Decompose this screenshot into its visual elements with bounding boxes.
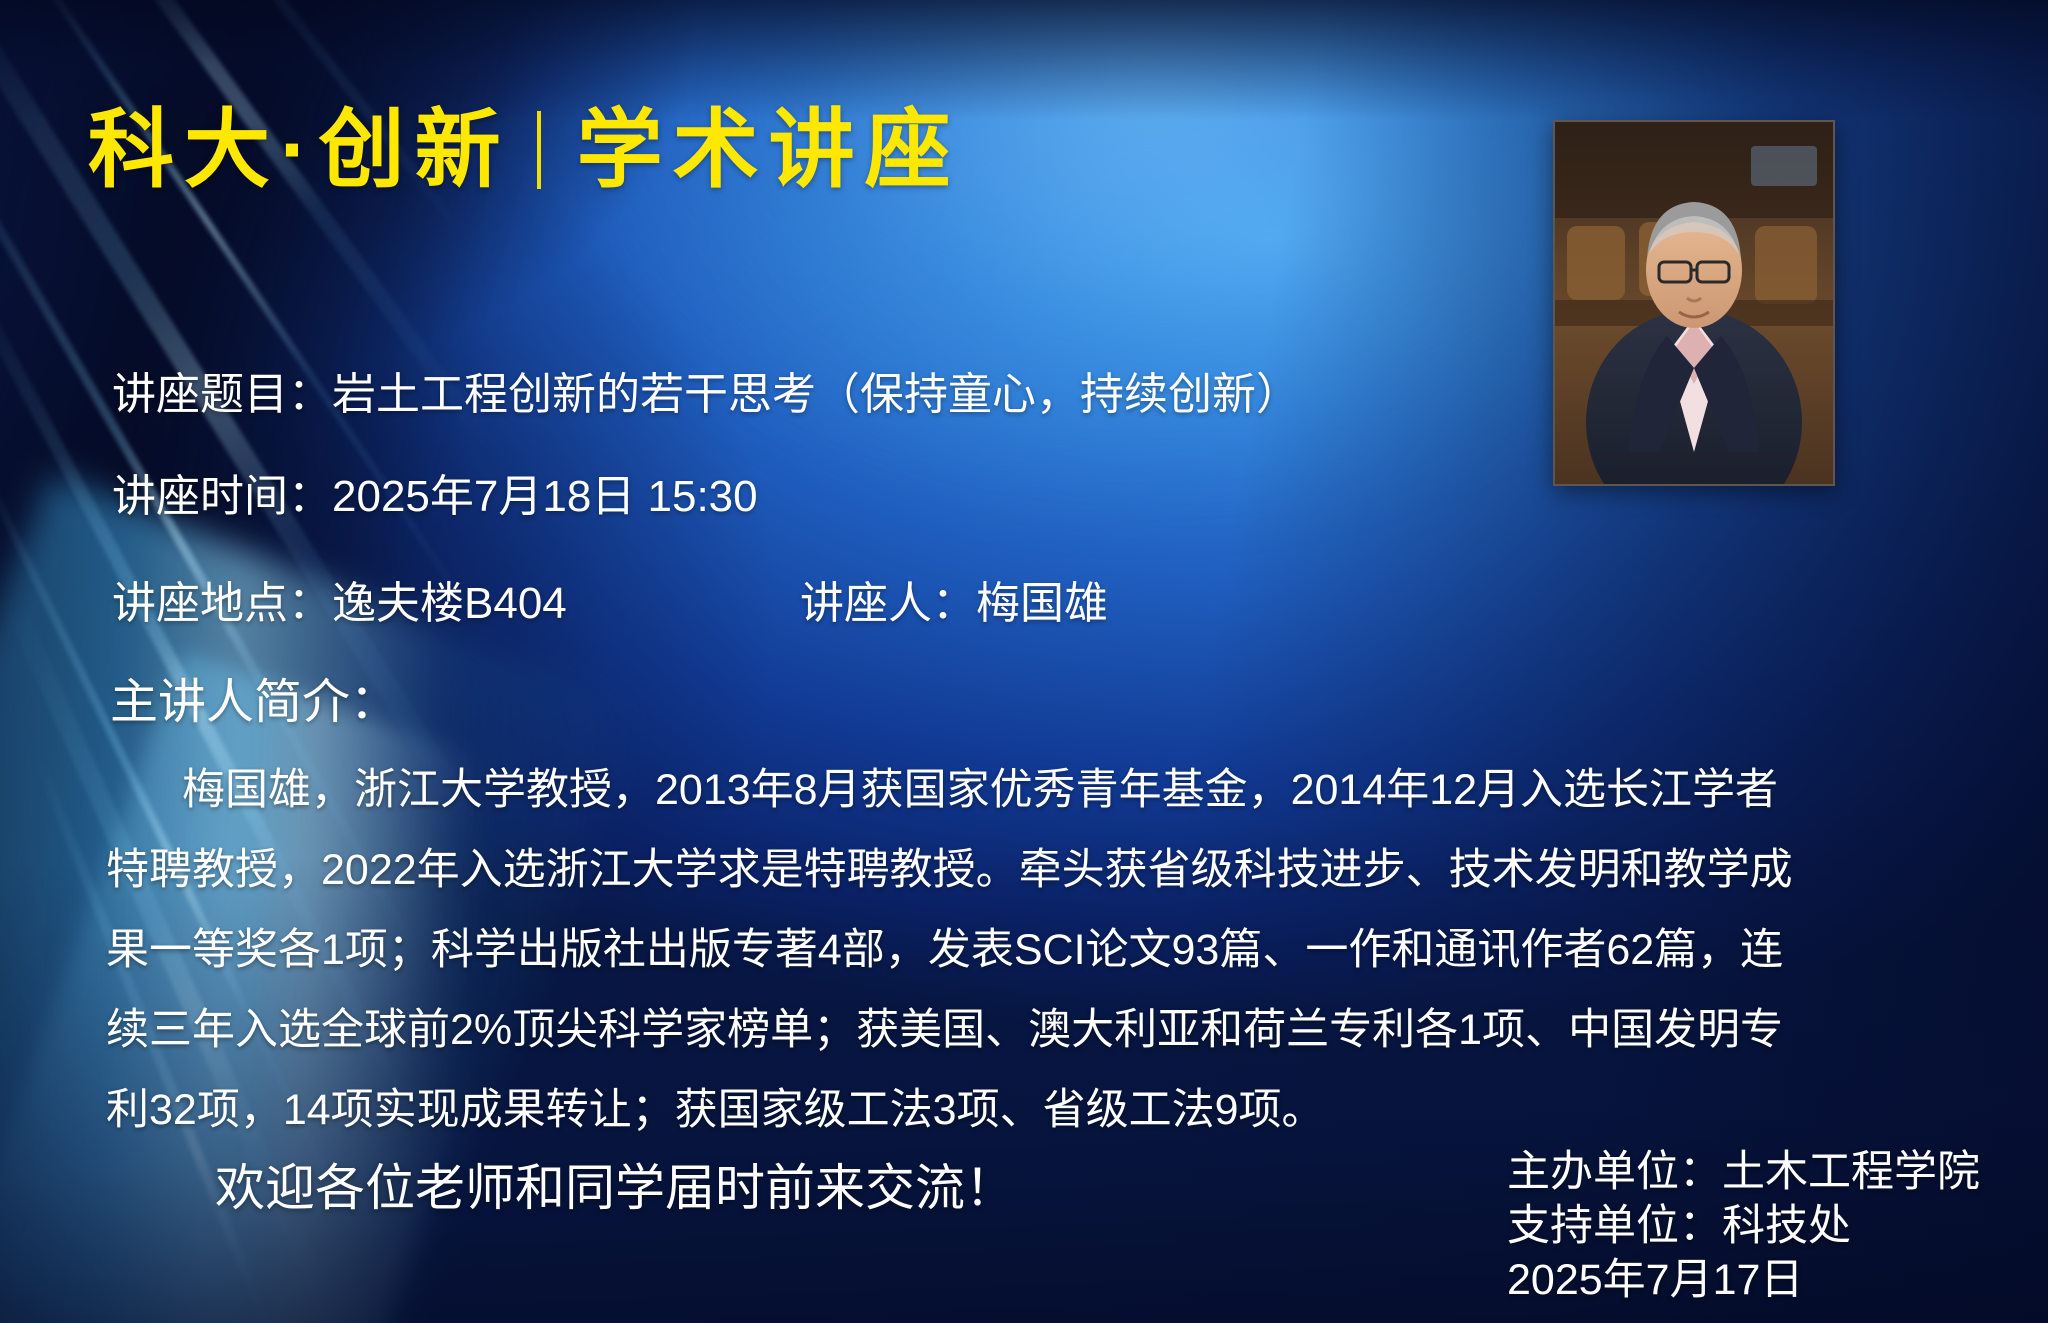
publish-date: 2025年7月17日 <box>1507 1253 1980 1307</box>
organizer-block: 主办单位：土木工程学院 支持单位：科技处 2025年7月17日 <box>1507 1145 1980 1307</box>
welcome-message: 欢迎各位老师和同学届时前来交流！ <box>215 1148 1015 1220</box>
poster-title-sub: 学术讲座 <box>577 104 961 197</box>
lecture-topic-line: 讲座题目：岩土工程创新的若干思考（保持童心，持续创新） <box>112 358 1300 422</box>
bio-line-text: 特聘教授，2022年入选浙江大学求是特聘教授。牵头获省级科技进步、技术发明和教学… <box>106 846 1793 894</box>
bio-line: 利32项，14项实现成果转让；获国家级工法3项、省级工法9项。 <box>106 1070 1976 1150</box>
bio-line: 梅国雄，浙江大学教授，2013年8月获国家优秀青年基金，2014年12月入选长江… <box>106 750 1976 830</box>
poster-title-main: 科大·创新 <box>88 104 511 197</box>
bio-line-text: 梅国雄，浙江大学教授，2013年8月获国家优秀青年基金，2014年12月入选长江… <box>182 766 1778 814</box>
lecture-time-line: 讲座时间：2025年7月18日 15:30 <box>112 460 758 524</box>
bio-line-text: 利32项，14项实现成果转让；获国家级工法3项、省级工法9项。 <box>106 1086 1325 1134</box>
poster-title: 科大·创新 学术讲座 <box>88 104 961 197</box>
bio-line: 特聘教授，2022年入选浙江大学求是特聘教授。牵头获省级科技进步、技术发明和教学… <box>106 830 1976 910</box>
support-organization: 支持单位：科技处 <box>1507 1199 1980 1253</box>
lecture-poster: 科大·创新 学术讲座 <box>0 0 2048 1323</box>
lecture-speaker-line: 讲座人：梅国雄 <box>800 567 1108 631</box>
title-divider-bar <box>537 111 541 189</box>
bio-line-text: 续三年入选全球前2%顶尖科学家榜单；获美国、澳大利亚和荷兰专利各1项、中国发明专 <box>106 1006 1783 1054</box>
speaker-bio-heading: 主讲人简介： <box>110 662 398 732</box>
bio-line: 续三年入选全球前2%顶尖科学家榜单；获美国、澳大利亚和荷兰专利各1项、中国发明专 <box>106 990 1976 1070</box>
speaker-bio-body: 梅国雄，浙江大学教授，2013年8月获国家优秀青年基金，2014年12月入选长江… <box>106 750 1976 1150</box>
lecture-place-line: 讲座地点：逸夫楼B404 <box>112 567 567 631</box>
bio-line: 果一等奖各1项；科学出版社出版专著4部，发表SCI论文93篇、一作和通讯作者62… <box>106 910 1976 990</box>
bio-line-text: 果一等奖各1项；科学出版社出版专著4部，发表SCI论文93篇、一作和通讯作者62… <box>106 926 1783 974</box>
host-organization: 主办单位：土木工程学院 <box>1507 1145 1980 1199</box>
speaker-portrait <box>1553 120 1835 486</box>
portrait-illustration <box>1555 122 1833 484</box>
